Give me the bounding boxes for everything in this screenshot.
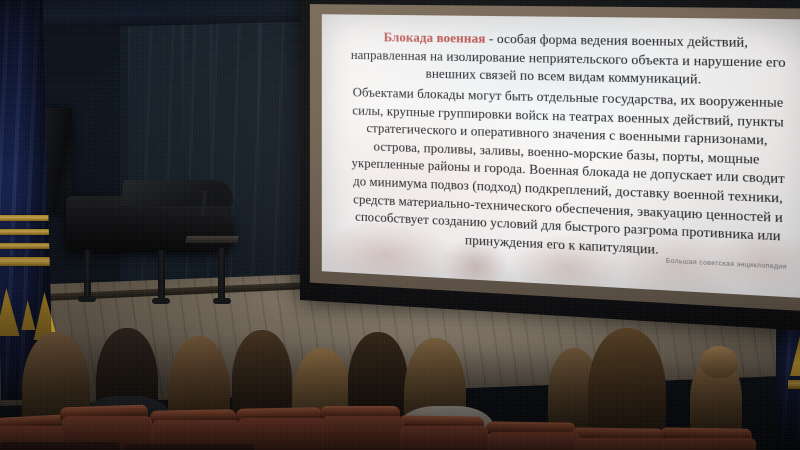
piano-keyboard xyxy=(185,236,239,243)
projection-screen: Блокада военная - особая форма ведения в… xyxy=(300,0,800,333)
piano-leg xyxy=(158,250,165,300)
piano-foot xyxy=(78,296,96,302)
seat-back[interactable] xyxy=(0,442,120,450)
slide-paragraph-definition: Блокада военная - особая форма ведения в… xyxy=(348,29,789,92)
piano-foot xyxy=(152,298,170,304)
curtain-gold-stripe xyxy=(0,229,49,235)
curtain-gold-stripe xyxy=(0,257,50,266)
audience-seating xyxy=(0,310,800,450)
seat-back[interactable] xyxy=(124,444,254,450)
slide-surface: Блокада военная - особая форма ведения в… xyxy=(322,14,800,298)
photo-scene: Блокада военная - особая форма ведения в… xyxy=(0,0,800,450)
curtain-gold-stripe xyxy=(0,215,49,221)
seat[interactable] xyxy=(400,426,488,450)
seat[interactable] xyxy=(574,438,668,450)
piano-lid xyxy=(120,180,236,206)
grand-piano xyxy=(66,178,251,306)
seat[interactable] xyxy=(662,438,756,450)
piano-leg xyxy=(84,250,91,298)
audience-person-head xyxy=(700,346,738,378)
seat[interactable] xyxy=(488,432,580,450)
slide-paragraph-objects: Объектами блокады могут быть отдельные г… xyxy=(348,84,789,266)
slide-text-block: Блокада военная - особая форма ведения в… xyxy=(348,29,789,269)
seat[interactable] xyxy=(322,416,404,450)
piano-foot xyxy=(213,298,231,304)
curtain-gold-stripe xyxy=(0,243,49,249)
drape-fold xyxy=(258,18,260,278)
piano-leg xyxy=(218,248,225,300)
slide-term: Блокада военная xyxy=(384,30,486,46)
